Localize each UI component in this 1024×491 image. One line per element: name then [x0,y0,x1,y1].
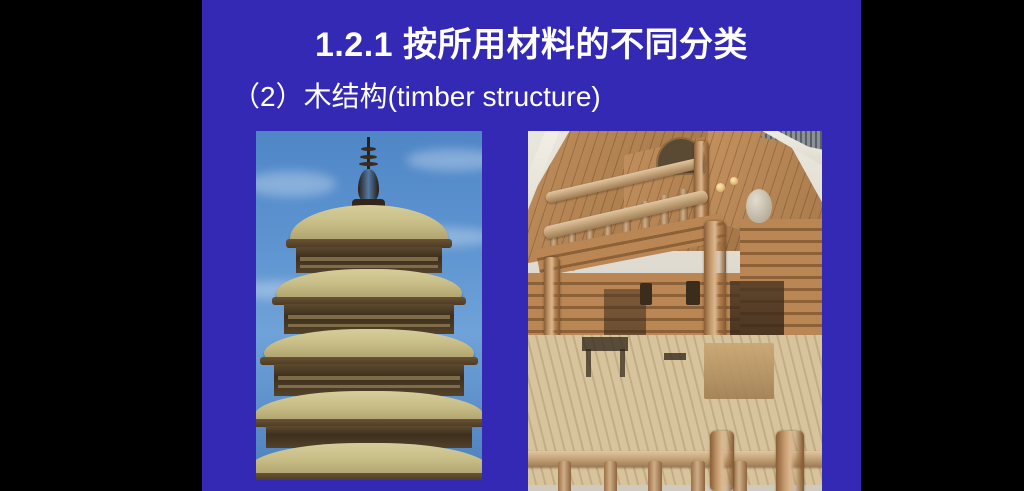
log-end-medallion [746,189,772,223]
page-title: 1.2.1 按所用材料的不同分类 [202,28,861,64]
deck-baluster [604,461,617,491]
pagoda-balcony-rail [278,385,460,388]
log-cabin-photo [528,131,822,491]
wall-lantern [686,281,700,305]
slide-viewer: 1.2.1 按所用材料的不同分类 （2）木结构(timber structure… [0,0,1024,491]
pagoda-balcony-rail [288,315,450,319]
letterbox-right [861,0,1024,491]
pagoda-spire-ring [359,162,378,166]
cabin-doorway [730,281,784,341]
pagoda-balcony-rail [278,376,460,380]
pagoda-spire-ring [361,147,376,151]
pagoda-balcony-rail [300,265,438,268]
pagoda-photo [256,131,482,480]
porch-light [716,183,725,192]
slide-subtitle: （2）木结构(timber structure) [232,82,601,113]
letterbox-left [0,0,202,491]
porch-light [730,177,738,185]
deck-furniture-leg [620,349,625,377]
deck-corner-post [710,431,734,491]
deck-baluster [558,461,571,491]
deck-bench [704,343,774,399]
wall-lantern [640,283,652,305]
pagoda-balcony-rail [300,257,438,261]
presentation-slide: 1.2.1 按所用材料的不同分类 （2）木结构(timber structure… [202,0,861,491]
deck-corner-post [776,431,804,491]
deck-baluster [648,461,662,491]
deck-furniture [664,353,686,360]
deck-baluster [691,461,705,491]
deck-furniture-leg [586,349,591,377]
pagoda-balcony-rail [288,324,450,327]
pagoda-finial [358,169,379,203]
pagoda-roof-shadow [256,473,482,480]
deck-baluster [733,461,747,491]
pagoda-spire-ring [360,155,377,159]
